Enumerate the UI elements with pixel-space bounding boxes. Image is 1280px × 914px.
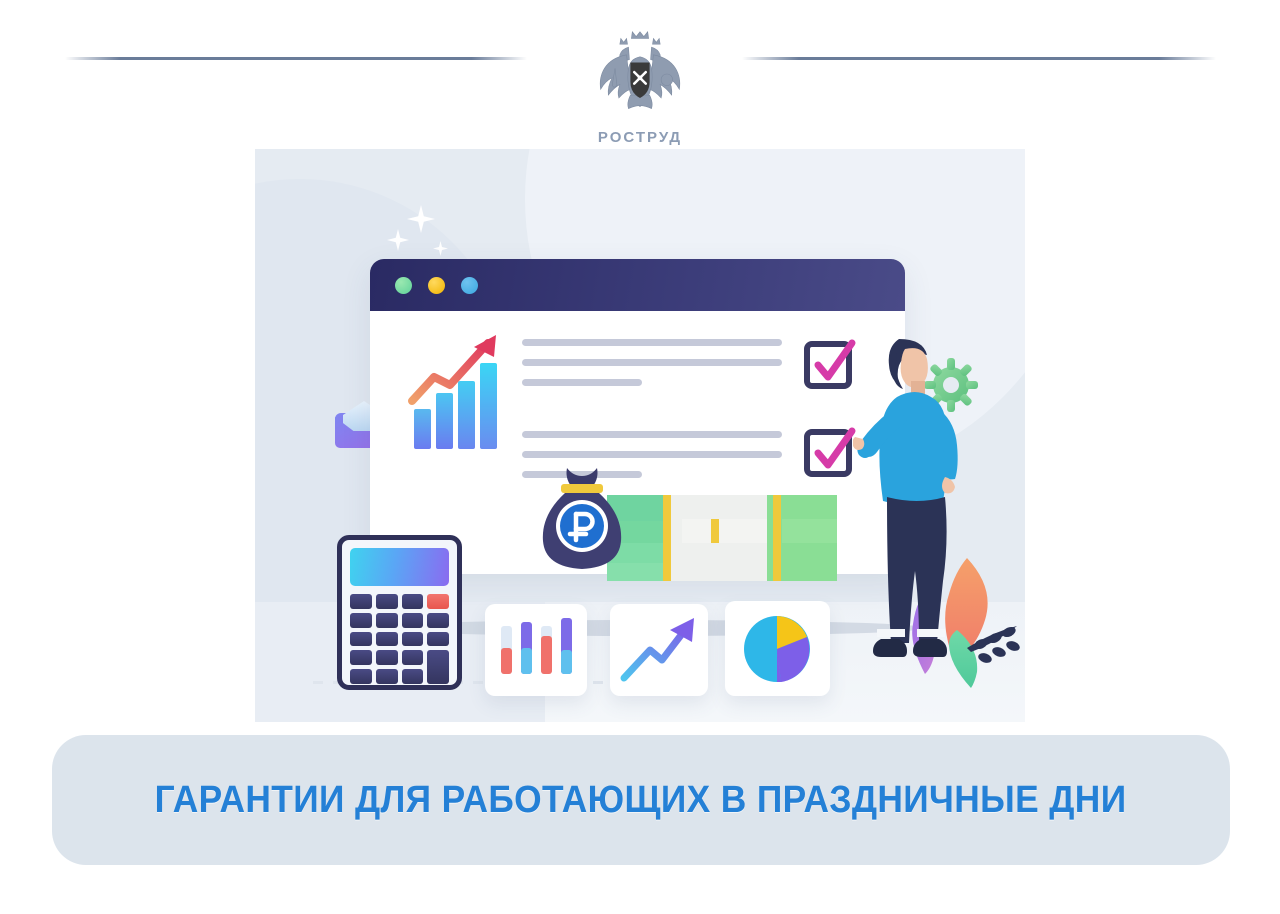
calculator-keypad[interactable]	[350, 594, 449, 684]
browser-titlebar	[370, 259, 905, 311]
bar-chart-icon	[485, 604, 587, 696]
card-pie-chart[interactable]	[725, 601, 830, 696]
calculator-key[interactable]	[427, 613, 449, 628]
calculator-key[interactable]	[376, 669, 398, 684]
content-text-line	[522, 359, 782, 366]
header: РОСТРУД	[0, 0, 1280, 150]
calculator-key-clear[interactable]	[427, 594, 449, 609]
calculator-key[interactable]	[350, 669, 372, 684]
calculator-key-equals[interactable]	[427, 650, 449, 684]
calculator-key[interactable]	[402, 669, 424, 684]
checkbox-checked-2[interactable]	[804, 429, 852, 477]
trend-up-arrow-icon	[610, 604, 708, 696]
card-bar-chart[interactable]	[485, 604, 587, 696]
illustration	[255, 149, 1025, 722]
checkmark-icon	[804, 337, 860, 393]
window-dot-blue-icon[interactable]	[461, 277, 478, 294]
russian-double-headed-eagle-emblem-icon	[592, 26, 688, 122]
calculator-key[interactable]	[402, 632, 424, 647]
window-dot-yellow-icon[interactable]	[428, 277, 445, 294]
window-dot-green-icon[interactable]	[395, 277, 412, 294]
calculator-key[interactable]	[376, 594, 398, 609]
banknote-stack-icon	[607, 489, 837, 584]
calculator-key[interactable]	[350, 594, 372, 609]
calculator[interactable]	[337, 535, 462, 690]
calculator-key[interactable]	[427, 632, 449, 647]
content-text-line	[522, 451, 782, 458]
content-text-line	[522, 431, 782, 438]
calculator-display	[350, 548, 449, 586]
calculator-key[interactable]	[350, 632, 372, 647]
calculator-key[interactable]	[402, 650, 424, 665]
growth-bar-chart-with-arrow-icon	[408, 329, 508, 449]
calculator-key[interactable]	[376, 650, 398, 665]
person-pointing	[853, 309, 973, 689]
rule-right-icon	[742, 57, 1216, 60]
poster-page: РОСТРУД	[0, 0, 1280, 914]
calculator-key[interactable]	[402, 613, 424, 628]
content-text-lines-group-1	[522, 339, 782, 399]
money-bag-icon	[539, 464, 625, 574]
checkmark-icon	[804, 425, 860, 481]
calculator-key[interactable]	[376, 613, 398, 628]
pie-chart-icon	[725, 601, 830, 696]
title-banner: ГАРАНТИИ ДЛЯ РАБОТАЮЩИХ В ПРАЗДНИЧНЫЕ ДН…	[52, 735, 1230, 865]
content-text-line	[522, 379, 642, 386]
page-title: ГАРАНТИИ ДЛЯ РАБОТАЮЩИХ В ПРАЗДНИЧНЫЕ ДН…	[155, 779, 1127, 822]
calculator-key[interactable]	[350, 650, 372, 665]
content-text-line	[522, 339, 782, 346]
checkbox-checked-1[interactable]	[804, 341, 852, 389]
calculator-key[interactable]	[350, 613, 372, 628]
card-trend-arrow[interactable]	[610, 604, 708, 696]
calculator-key[interactable]	[402, 594, 424, 609]
rule-left-icon	[65, 57, 527, 60]
org-name: РОСТРУД	[598, 129, 682, 146]
calculator-key[interactable]	[376, 632, 398, 647]
